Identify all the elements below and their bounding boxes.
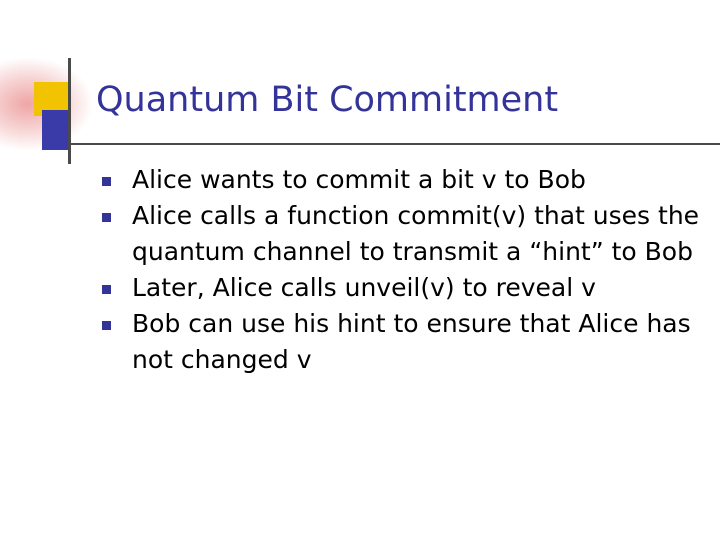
slide-decoration <box>0 40 110 165</box>
slide: Quantum Bit Commitment Alice wants to co… <box>0 0 720 540</box>
list-item-text: Bob can use his hint to ensure that Alic… <box>132 306 708 378</box>
list-item-text: Alice wants to commit a bit v to Bob <box>132 162 708 198</box>
bullet-square-icon <box>102 285 111 294</box>
list-item: Alice calls a function commit(v) that us… <box>96 198 708 270</box>
title-underline-rule <box>68 143 720 145</box>
slide-body: Alice wants to commit a bit v to Bob Ali… <box>96 162 708 378</box>
decoration-blue-rectangle <box>42 110 68 150</box>
list-item-text: Later, Alice calls unveil(v) to reveal v <box>132 270 708 306</box>
list-item: Bob can use his hint to ensure that Alic… <box>96 306 708 378</box>
list-item: Alice wants to commit a bit v to Bob <box>96 162 708 198</box>
list-item-text: Alice calls a function commit(v) that us… <box>132 198 708 270</box>
list-item: Later, Alice calls unveil(v) to reveal v <box>96 270 708 306</box>
bullet-square-icon <box>102 177 111 186</box>
decoration-vertical-line <box>68 58 71 164</box>
bullet-square-icon <box>102 321 111 330</box>
bullet-square-icon <box>102 213 111 222</box>
slide-title: Quantum Bit Commitment <box>96 78 696 122</box>
